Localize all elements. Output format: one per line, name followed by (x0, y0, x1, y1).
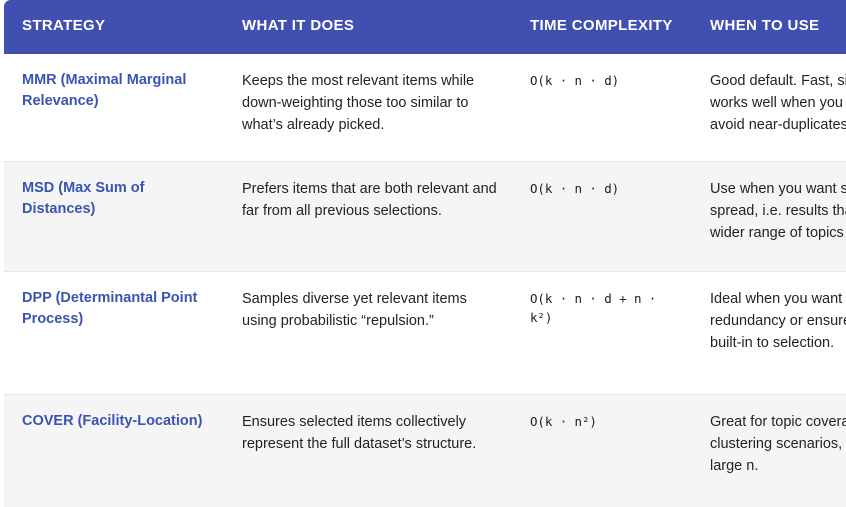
cell-strategy-name: COVER (Facility-Location) (4, 394, 228, 507)
strategy-comparison-table-wrapper: STRATEGY WHAT IT DOES TIME COMPLEXITY WH… (0, 0, 846, 452)
strategy-comparison-table: STRATEGY WHAT IT DOES TIME COMPLEXITY WH… (4, 0, 846, 507)
cell-strategy-name: MMR (Maximal Marginal Relevance) (4, 54, 228, 162)
column-header-time-complexity: TIME COMPLEXITY (516, 0, 696, 54)
cell-when-to-use: Good default. Fast, simple, and works we… (696, 54, 846, 162)
cell-what-it-does: Ensures selected items collectively repr… (228, 394, 516, 507)
column-header-strategy: STRATEGY (4, 0, 228, 54)
cell-what-it-does: Prefers items that are both relevant and… (228, 161, 516, 271)
column-header-what-it-does: WHAT IT DOES (228, 0, 516, 54)
table-row: MSD (Max Sum of Distances) Prefers items… (4, 161, 846, 271)
cell-strategy-name: MSD (Max Sum of Distances) (4, 161, 228, 271)
cell-when-to-use: Use when you want stronger spread, i.e. … (696, 161, 846, 271)
cell-strategy-name: DPP (Determinantal Point Process) (4, 271, 228, 394)
cell-what-it-does: Samples diverse yet relevant items using… (228, 271, 516, 394)
cell-time-complexity: O(k · n · d) (516, 161, 696, 271)
table-body: MMR (Maximal Marginal Relevance) Keeps t… (4, 54, 846, 507)
table-row: DPP (Determinantal Point Process) Sample… (4, 271, 846, 394)
table-header-row: STRATEGY WHAT IT DOES TIME COMPLEXITY WH… (4, 0, 846, 54)
cell-time-complexity: O(k · n · d + n · k²) (516, 271, 696, 394)
table-row: MMR (Maximal Marginal Relevance) Keeps t… (4, 54, 846, 162)
cell-when-to-use: Ideal when you want to eliminate redunda… (696, 271, 846, 394)
cell-time-complexity: O(k · n²) (516, 394, 696, 507)
column-header-when-to-use: WHEN TO USE (696, 0, 846, 54)
cell-when-to-use: Great for topic coverage or clustering s… (696, 394, 846, 507)
cell-what-it-does: Keeps the most relevant items while down… (228, 54, 516, 162)
cell-time-complexity: O(k · n · d) (516, 54, 696, 162)
table-header: STRATEGY WHAT IT DOES TIME COMPLEXITY WH… (4, 0, 846, 54)
table-row: COVER (Facility-Location) Ensures select… (4, 394, 846, 507)
